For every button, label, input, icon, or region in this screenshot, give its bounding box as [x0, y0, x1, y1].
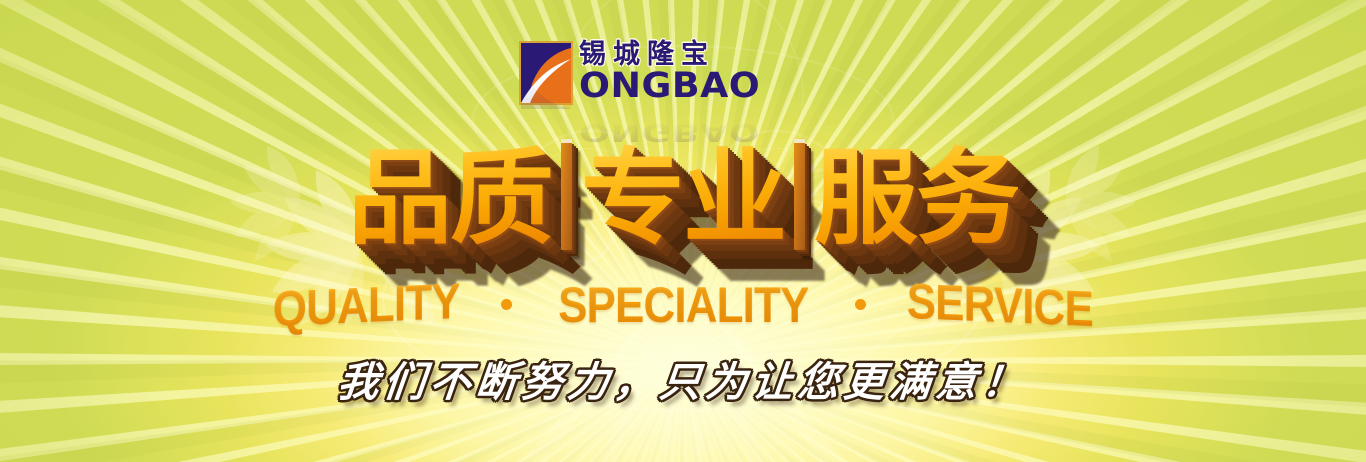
logo-chinese-name: 锡城隆宝	[579, 41, 753, 69]
tagline-text: 我们不断努力，只为让您更满意！	[0, 356, 1366, 408]
headline-item-quality: 品质	[348, 142, 552, 254]
logo-english-name: ONGBAO	[579, 69, 760, 103]
logo-mark-reflection	[518, 69, 574, 109]
subtitle-group: QUALITY SPECIALITY SERVICE	[0, 278, 1366, 332]
headline-item-speciality: 专业	[581, 142, 785, 254]
company-logo[interactable]: 锡城隆宝 ONGBAO ONGBAO	[518, 40, 848, 115]
subtitle-separator-dot-1	[501, 299, 512, 310]
headline-group: 品质 专业 服务	[0, 133, 1366, 263]
headline-separator-1	[561, 142, 572, 250]
subtitle-word-speciality: SPECIALITY	[558, 278, 808, 332]
subtitle-word-quality: QUALITY	[273, 274, 460, 336]
headline-item-service: 服务	[814, 142, 1018, 254]
logo-wordmark: 锡城隆宝 ONGBAO	[579, 40, 753, 103]
subtitle-word-service: SERVICE	[907, 274, 1093, 336]
subtitle-separator-dot-2	[855, 299, 866, 310]
headline-separator-2	[794, 142, 805, 250]
promotional-banner: 锡城隆宝 ONGBAO ONGBAO 品质 专业 服务 QUALITY SPEC…	[0, 0, 1366, 462]
